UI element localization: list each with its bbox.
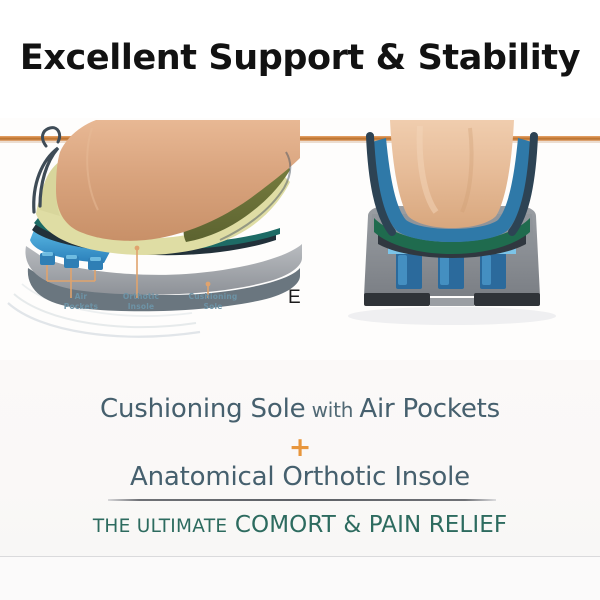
feature-air-pockets: Air Pockets [359,394,500,424]
divider [108,499,496,501]
stray-letter-e: E [288,288,301,307]
copy-band: Cushioning Sole with Air Pockets + Anato… [0,360,600,556]
page-title: Excellent Support & Stability [0,38,600,78]
callout-air-pockets: Air Pockets [57,292,105,311]
shoe-illustrations [0,118,600,360]
tagline: THE ULTIMATE COMORT & PAIN RELIEF [0,512,600,538]
tagline-pre: THE ULTIMATE [93,516,228,537]
feature-line-1: Cushioning Sole with Air Pockets [0,394,600,424]
callout-orthotic-insole-line2: Insole [112,302,170,312]
callout-cushioning-sole-line1: Cushioning [180,292,246,302]
plus-icon: + [0,434,600,461]
callout-air-pockets-line2: Pockets [57,302,105,312]
callout-orthotic-insole: Orthotic Insole [112,292,170,311]
tagline-main: COMORT & PAIN RELIEF [235,512,507,538]
feature-with: with [312,398,354,422]
title-band: Excellent Support & Stability [0,0,600,118]
right-shoe-rear-view [348,120,556,325]
illustration-band [0,118,600,360]
promo-graphic: Excellent Support & Stability [0,0,600,600]
footer-strip [0,557,600,600]
feature-cushioning-sole: Cushioning Sole [100,394,305,424]
feature-line-2: Anatomical Orthotic Insole [0,462,600,492]
callout-cushioning-sole: Cushioning Sole [180,292,246,311]
callout-air-pockets-line1: Air [57,292,105,302]
callout-orthotic-insole-line1: Orthotic [112,292,170,302]
callout-cushioning-sole-line2: Sole [180,302,246,312]
